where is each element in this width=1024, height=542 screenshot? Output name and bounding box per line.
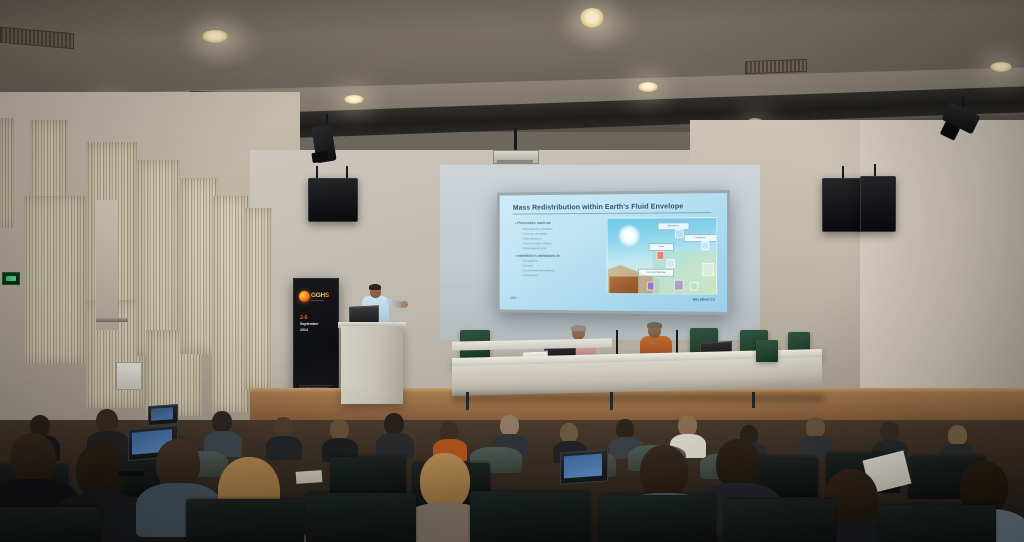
panelist-hair bbox=[647, 322, 662, 328]
seat-back bbox=[0, 507, 100, 542]
light-hanger-rod bbox=[962, 96, 964, 108]
lecture-hall-photo: Mass Redistribution within Earth's Fluid… bbox=[0, 0, 1024, 542]
sun-icon bbox=[617, 224, 641, 246]
slide-title: Mass Redistribution within Earth's Fluid… bbox=[513, 201, 718, 212]
bullet-item: Hydrological cycle bbox=[521, 246, 613, 250]
lectern bbox=[341, 326, 403, 404]
audience-head bbox=[948, 425, 967, 446]
downlight bbox=[202, 30, 228, 43]
audience-head bbox=[274, 417, 293, 438]
bullet-item: Continental hydrosphere bbox=[521, 269, 613, 273]
wall-notice-plate bbox=[116, 362, 142, 390]
downlight bbox=[990, 62, 1012, 72]
acoustic-slat-panel bbox=[24, 196, 86, 364]
earth-system-illustration: Atmosphere Cryosphere Ocean Continental … bbox=[607, 217, 718, 295]
slide-bullet-list: Processes such as Atmospheric circulatio… bbox=[515, 220, 613, 279]
projection-screen: Mass Redistribution within Earth's Fluid… bbox=[497, 190, 730, 315]
bullet-item: Tidal attraction bbox=[521, 236, 613, 240]
ceiling-vent bbox=[745, 59, 807, 74]
audience-head bbox=[10, 433, 56, 485]
wall-handrail bbox=[96, 318, 128, 322]
audience-laptop-screen bbox=[151, 407, 173, 421]
audience-head bbox=[560, 423, 578, 443]
acoustic-slat-panel bbox=[212, 196, 248, 412]
slide-logo-helmholtz: HELMHOLTZ bbox=[693, 298, 716, 302]
audience-handout bbox=[296, 470, 323, 484]
figure-icon-box bbox=[656, 251, 664, 260]
presenter-hair bbox=[369, 284, 381, 290]
figure-icon-box bbox=[674, 280, 684, 290]
audience-head bbox=[440, 421, 458, 441]
banner-event-acronym: GGHS bbox=[311, 292, 329, 299]
figure-callout: Cryosphere bbox=[683, 234, 717, 242]
acoustic-slat-panel bbox=[0, 118, 14, 228]
audience-laptop-screen bbox=[564, 454, 602, 479]
audience-head bbox=[212, 411, 232, 433]
presenter-hand bbox=[401, 301, 408, 308]
wall-plaster-inset bbox=[96, 200, 118, 330]
right-wall-column bbox=[860, 120, 1024, 420]
panelist-hair bbox=[571, 325, 586, 331]
audience-head bbox=[616, 419, 634, 439]
seat-back bbox=[724, 499, 836, 542]
bullet-item: manifest in variations in bbox=[515, 253, 613, 258]
stage-chair bbox=[756, 340, 778, 362]
bullet-item: Oceans bbox=[521, 264, 613, 268]
audience-head bbox=[96, 409, 118, 433]
downlight bbox=[638, 82, 658, 92]
audience-head bbox=[880, 421, 899, 442]
event-rollup-banner: GGHS Symposium 2-6 September 2024 Gravit… bbox=[293, 278, 339, 402]
audience-head bbox=[678, 415, 697, 436]
audience-head bbox=[156, 439, 200, 489]
bullet-item: Global climate change bbox=[521, 241, 613, 245]
figure-callout: Continental Hydrology bbox=[638, 269, 674, 277]
audience-head bbox=[330, 419, 349, 440]
banner-date-range: 2-6 bbox=[300, 315, 308, 321]
landmass-shape bbox=[610, 277, 638, 294]
figure-icon-box bbox=[675, 229, 684, 238]
figure-icon-box bbox=[701, 241, 710, 250]
eyeglasses-icon bbox=[118, 471, 144, 476]
audience-shoulders bbox=[376, 433, 414, 459]
audience-head bbox=[716, 439, 760, 489]
projector-mount-rod bbox=[514, 128, 517, 152]
pa-speaker bbox=[308, 178, 358, 222]
downlight-glow bbox=[178, 14, 268, 70]
audience-head bbox=[500, 415, 519, 436]
projector-lens bbox=[497, 160, 533, 164]
seat-back bbox=[878, 505, 996, 542]
bullet-item: Atmosphere bbox=[521, 259, 613, 263]
downlight bbox=[344, 95, 364, 104]
bullet-item: Oceanic circulation bbox=[521, 231, 613, 235]
audience-head bbox=[420, 453, 470, 509]
figure-callout: Ocean bbox=[649, 243, 675, 251]
presentation-slide: Mass Redistribution within Earth's Fluid… bbox=[500, 193, 727, 312]
acoustic-slat-panel bbox=[136, 160, 180, 356]
exit-sign-icon bbox=[2, 272, 20, 285]
audience-head bbox=[640, 445, 688, 499]
figure-icon-box bbox=[690, 282, 699, 292]
bullet-item: Cryosphere bbox=[521, 273, 613, 277]
seat-back bbox=[600, 495, 716, 542]
figure-icon-box bbox=[702, 263, 714, 276]
figure-icon-box bbox=[646, 281, 654, 291]
seat-back bbox=[186, 499, 304, 542]
audience-head bbox=[384, 413, 404, 435]
bullet-item: Atmospheric circulation bbox=[521, 226, 613, 230]
figure-callout: Atmosphere bbox=[657, 222, 689, 230]
downlight bbox=[580, 8, 604, 28]
downlight-glow bbox=[558, 0, 644, 52]
audience-head bbox=[806, 417, 825, 438]
seat-back bbox=[306, 493, 416, 542]
audience-shoulders bbox=[266, 436, 302, 460]
bullet-item: Processes such as bbox=[515, 220, 613, 225]
slide-logo-left: GFZ bbox=[511, 297, 517, 301]
globe-logo-icon bbox=[299, 291, 310, 302]
figure-icon-box bbox=[666, 259, 674, 268]
seat-back bbox=[470, 491, 590, 542]
audience-area bbox=[0, 395, 1024, 542]
pa-speaker bbox=[822, 178, 862, 232]
pa-speaker bbox=[860, 176, 896, 232]
banner-event-subtitle: Symposium bbox=[311, 300, 324, 302]
banner-month: September bbox=[300, 322, 319, 326]
acoustic-slat-panel bbox=[244, 208, 272, 390]
banner-year: 2024 bbox=[300, 328, 308, 332]
